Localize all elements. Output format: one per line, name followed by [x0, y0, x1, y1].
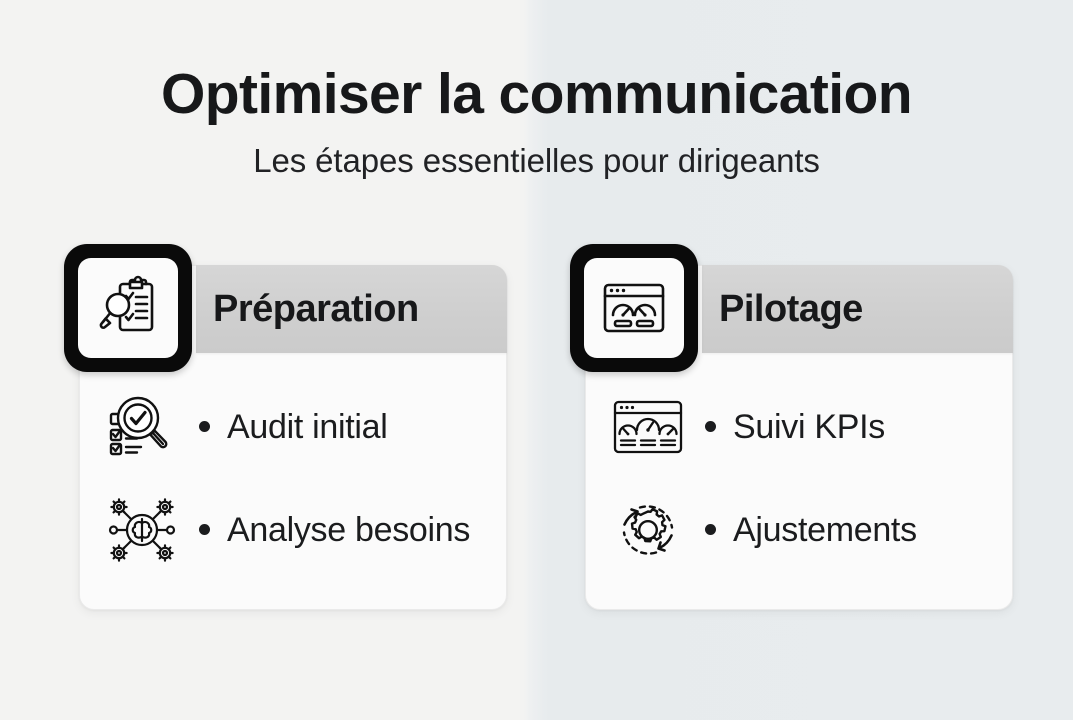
list-item-label: Suivi KPIs	[733, 407, 885, 447]
card-title: Pilotage	[719, 283, 863, 335]
brain-gears-network-icon	[99, 491, 185, 569]
card-list: Audit initial	[79, 353, 507, 610]
dashboard-gauges-window-icon	[584, 258, 684, 358]
infographic-stage: Optimiser la communication Les étapes es…	[0, 0, 1073, 720]
card-list: Suivi KPIs	[585, 353, 1013, 610]
list-item[interactable]: Ajustements	[585, 478, 1013, 581]
gear-refresh-arrows-icon	[605, 491, 691, 569]
list-item[interactable]: Audit initial	[79, 375, 507, 478]
list-item-label: Analyse besoins	[227, 510, 470, 550]
card-preparation[interactable]: Préparation	[79, 265, 507, 610]
bullet-icon	[199, 524, 210, 535]
card-pilotage[interactable]: Pilotage	[585, 265, 1013, 610]
list-item-label: Ajustements	[733, 510, 917, 550]
card-title: Préparation	[213, 283, 419, 335]
checklist-magnifier-check-icon	[99, 388, 185, 466]
bullet-icon	[199, 421, 210, 432]
clipboard-magnifier-icon	[78, 258, 178, 358]
list-item-label: Audit initial	[227, 407, 388, 447]
bullet-icon	[705, 524, 716, 535]
bullet-icon	[705, 421, 716, 432]
dashboard-three-gauges-icon	[605, 388, 691, 466]
page-subtitle: Les étapes essentielles pour dirigeants	[0, 142, 1073, 180]
header: Optimiser la communication Les étapes es…	[0, 0, 1073, 179]
list-item[interactable]: Suivi KPIs	[585, 375, 1013, 478]
list-item[interactable]: Analyse besoins	[79, 478, 507, 581]
page-title: Optimiser la communication	[0, 64, 1073, 126]
